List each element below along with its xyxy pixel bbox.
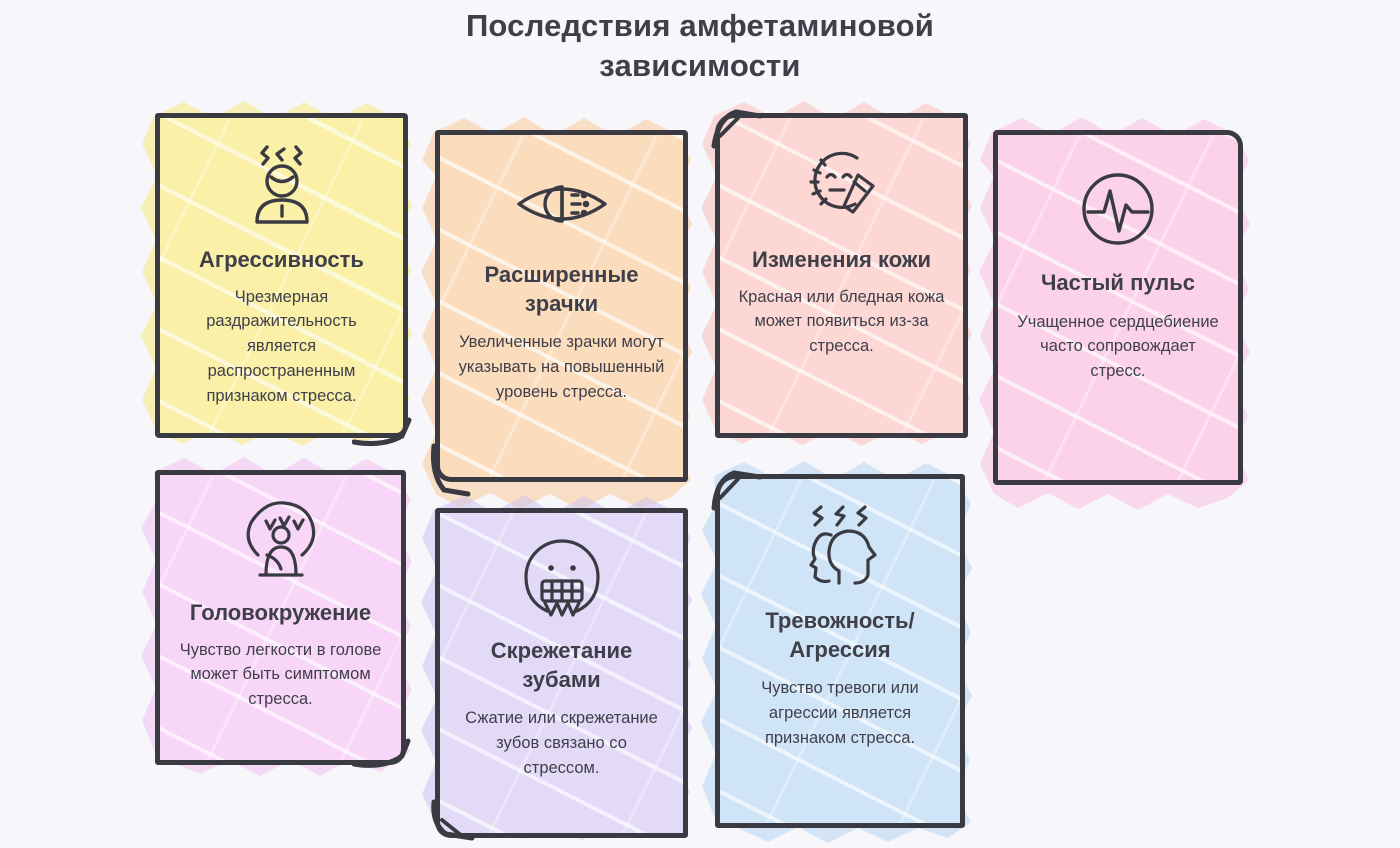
face-brush-icon: [799, 144, 885, 228]
icon-eye-wrap: [440, 173, 683, 243]
two-heads-lightning-icon: [795, 505, 885, 591]
eye-icon: [514, 173, 610, 235]
icon-grinding-teeth-wrap: [440, 537, 683, 621]
card-title-dizziness: Головокружение: [180, 599, 381, 628]
card-desc-dizziness: Чувство легкости в голове может быть сим…: [160, 638, 401, 712]
card-rapid-pulse[interactable]: Частый пульс Учащенное сердцебиение част…: [993, 130, 1243, 485]
icon-dizzy-person-wrap: [160, 497, 401, 585]
card-anxiety-aggression[interactable]: Тревожность/ Агрессия Чувство тревоги ил…: [715, 474, 965, 828]
card-dizziness[interactable]: Головокружение Чувство легкости в голове…: [155, 470, 406, 765]
pulse-circle-icon: [1078, 169, 1158, 249]
card-teeth-grinding[interactable]: Скрежетание зубами Сжатие или скрежетани…: [435, 508, 688, 838]
card-desc-anxiety-aggression: Чувство тревоги или агрессии является пр…: [720, 676, 960, 750]
cards-board: Агрессивность Чрезмерная раздражительнос…: [0, 0, 1400, 846]
card-title-dilated-pupils: Расширенные зрачки: [440, 261, 683, 318]
card-title-skin-changes: Изменения кожи: [742, 246, 941, 275]
card-desc-teeth-grinding: Сжатие или скрежетание зубов связано со …: [440, 706, 683, 780]
card-desc-skin-changes: Красная или бледная кожа может появиться…: [720, 285, 963, 359]
card-title-teeth-grinding: Скрежетание зубами: [440, 637, 683, 694]
card-aggression[interactable]: Агрессивность Чрезмерная раздражительнос…: [155, 113, 408, 438]
icon-angry-person-wrap: [160, 144, 403, 230]
card-desc-aggression: Чрезмерная раздражительность является ра…: [160, 285, 403, 409]
icon-two-heads-lightning-wrap: [720, 505, 960, 591]
card-title-anxiety-aggression: Тревожность/ Агрессия: [720, 607, 960, 664]
card-desc-dilated-pupils: Увеличенные зрачки могут указывать на по…: [440, 330, 683, 404]
angry-person-icon: [239, 144, 325, 230]
card-dilated-pupils[interactable]: Расширенные зрачки Увеличенные зрачки мо…: [435, 130, 688, 482]
icon-face-brush-wrap: [720, 144, 963, 230]
icon-pulse-circle-wrap: [998, 169, 1238, 249]
dizzy-person-icon: [236, 497, 326, 583]
grinding-teeth-icon: [520, 537, 604, 621]
card-title-aggression: Агрессивность: [189, 246, 374, 275]
card-title-rapid-pulse: Частый пульс: [1031, 269, 1205, 298]
card-skin-changes[interactable]: Изменения кожи Красная или бледная кожа …: [715, 113, 968, 438]
card-desc-rapid-pulse: Учащенное сердцебиение часто сопровождае…: [998, 310, 1238, 384]
